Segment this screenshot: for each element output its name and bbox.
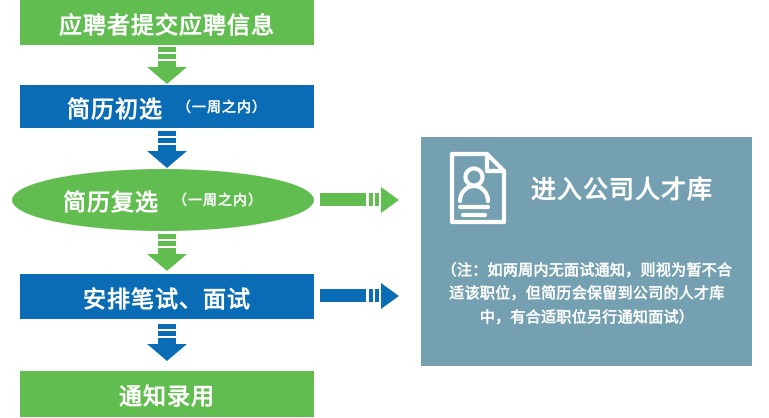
flow-node-label: 应聘者提交应聘信息 bbox=[59, 6, 275, 40]
flow-node-submit-application[interactable]: 应聘者提交应聘信息 bbox=[20, 0, 314, 45]
arrow-down-screen2-to-interview bbox=[145, 234, 189, 271]
flow-node-arrange-written-test-interview[interactable]: 安排笔试、面试 bbox=[20, 274, 314, 319]
arrow-down-screen1-to-screen2 bbox=[145, 131, 189, 168]
flow-node-resume-first-screening[interactable]: 简历初选 （一周之内） bbox=[20, 85, 314, 128]
arrow-down-submit-to-screen1 bbox=[145, 47, 189, 84]
flow-node-note: （一周之内） bbox=[173, 190, 263, 210]
flow-node-note: （一周之内） bbox=[177, 97, 267, 117]
arrow-right-screen2-to-talentpool bbox=[320, 187, 400, 213]
flow-node-resume-second-screening[interactable]: 简历复选 （一周之内） bbox=[12, 169, 314, 231]
flow-node-label: 通知录用 bbox=[119, 377, 215, 411]
recruitment-flowchart: 应聘者提交应聘信息 简历初选 （一周之内） 简历复选 （一周之内） bbox=[0, 0, 769, 418]
arrow-right-interview-to-talentpool bbox=[320, 283, 400, 309]
resume-person-document-icon bbox=[447, 150, 509, 226]
arrow-down-interview-to-offer bbox=[145, 324, 189, 361]
flow-node-label: 简历复选 bbox=[63, 183, 159, 217]
flow-node-label: 安排笔试、面试 bbox=[83, 280, 251, 314]
talent-pool-note: （注：如两周内无面试通知，则视为暂不合适该职位，但简历会保留到公司的人才库中，有… bbox=[439, 259, 735, 329]
talent-pool-header: 进入公司人才库 bbox=[447, 150, 713, 226]
flow-node-label: 简历初选 bbox=[67, 90, 163, 124]
talent-pool-title: 进入公司人才库 bbox=[531, 170, 713, 206]
flow-node-notify-hire[interactable]: 通知录用 bbox=[20, 371, 314, 417]
talent-pool-panel[interactable]: 进入公司人才库 （注：如两周内无面试通知，则视为暂不合适该职位，但简历会保留到公… bbox=[421, 137, 752, 366]
